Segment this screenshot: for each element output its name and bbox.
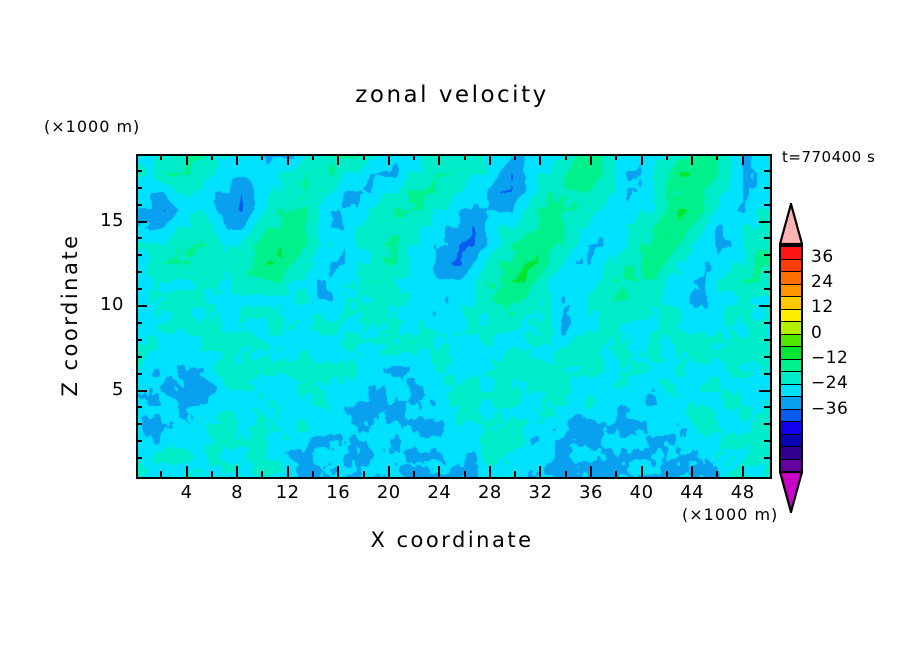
tick-x-top	[261, 154, 263, 160]
tick-x-top	[514, 154, 516, 160]
tick-x-bottom	[312, 471, 314, 477]
tick-x-bottom	[742, 466, 744, 477]
tick-y-right	[764, 204, 770, 206]
tick-x-bottom	[691, 466, 693, 477]
tick-x-top	[666, 154, 668, 160]
tick-x-bottom	[590, 466, 592, 477]
tick-y-left	[136, 373, 142, 375]
tick-y-left	[136, 221, 147, 223]
tick-y-right	[764, 440, 770, 442]
colorbar-band	[781, 322, 801, 335]
colorbar-band	[781, 385, 801, 398]
colorbar-tick-label: 36	[811, 247, 834, 267]
tick-x-top	[160, 154, 162, 160]
colorbar-tick-label: 12	[811, 297, 834, 317]
plot-area	[136, 154, 772, 479]
tick-y-right	[764, 406, 770, 408]
colorbar-band	[781, 247, 801, 260]
colorbar-tick-label: 0	[811, 323, 822, 343]
colorbar-band	[781, 310, 801, 323]
colorbar-band	[781, 435, 801, 448]
tick-x-top	[716, 154, 718, 160]
tick-x-bottom	[413, 471, 415, 477]
colorbar-band	[781, 447, 801, 460]
tick-x-bottom	[641, 466, 643, 477]
page-title: zonal velocity	[0, 82, 904, 108]
tick-label-x: 48	[713, 482, 773, 503]
colorbar-band	[781, 347, 801, 360]
colorbar-bottom-arrow-icon	[779, 471, 803, 513]
colorbar-band	[781, 460, 801, 472]
colorbar-band	[781, 272, 801, 285]
tick-label-y: 15	[64, 210, 124, 231]
tick-x-bottom	[464, 471, 466, 477]
tick-y-left	[136, 237, 142, 239]
tick-x-top	[438, 154, 440, 165]
tick-x-bottom	[363, 471, 365, 477]
tick-y-left	[136, 423, 142, 425]
tick-x-top	[691, 154, 693, 165]
tick-x-top	[413, 154, 415, 160]
x-axis-title: X coordinate	[0, 528, 904, 552]
tick-x-top	[186, 154, 188, 165]
colorbar-band	[781, 372, 801, 385]
tick-x-top	[464, 154, 466, 160]
tick-x-bottom	[236, 466, 238, 477]
colorbar-bands	[779, 245, 803, 473]
tick-x-top	[489, 154, 491, 165]
tick-label-y: 5	[64, 379, 124, 400]
tick-x-top	[236, 154, 238, 165]
tick-x-bottom	[565, 471, 567, 477]
tick-y-left	[136, 187, 142, 189]
tick-y-right	[759, 390, 770, 392]
tick-y-left	[136, 440, 142, 442]
tick-x-bottom	[438, 466, 440, 477]
colorbar-tick-label: −24	[811, 373, 848, 393]
tick-y-left	[136, 457, 142, 459]
tick-y-left	[136, 339, 142, 341]
tick-label-y: 10	[64, 294, 124, 315]
tick-x-top	[641, 154, 643, 165]
tick-x-bottom	[261, 471, 263, 477]
colorbar-band	[781, 410, 801, 423]
tick-y-left	[136, 406, 142, 408]
tick-x-top	[565, 154, 567, 160]
colorbar-band	[781, 422, 801, 435]
colorbar-top-arrow-icon	[779, 203, 803, 245]
colorbar-band	[781, 397, 801, 410]
tick-y-right	[764, 271, 770, 273]
tick-x-top	[388, 154, 390, 165]
tick-y-right	[764, 170, 770, 172]
tick-x-top	[211, 154, 213, 160]
colorbar-band	[781, 297, 801, 310]
tick-x-bottom	[666, 471, 668, 477]
tick-x-bottom	[287, 466, 289, 477]
colorbar-band	[781, 260, 801, 273]
tick-y-left	[136, 288, 142, 290]
tick-x-top	[312, 154, 314, 160]
tick-x-bottom	[211, 471, 213, 477]
tick-y-left	[136, 271, 142, 273]
tick-x-bottom	[160, 471, 162, 477]
tick-x-bottom	[539, 466, 541, 477]
tick-y-right	[759, 221, 770, 223]
tick-x-bottom	[514, 471, 516, 477]
tick-x-top	[363, 154, 365, 160]
colorbar-tick-label: 24	[811, 272, 834, 292]
x-axis-unit-label: (×1000 m)	[682, 505, 778, 524]
colorbar-band	[781, 360, 801, 373]
colorbar-tick-label: −36	[811, 399, 848, 419]
tick-y-right	[764, 457, 770, 459]
tick-y-right	[764, 288, 770, 290]
tick-x-top	[590, 154, 592, 165]
tick-y-left	[136, 390, 147, 392]
tick-y-right	[764, 339, 770, 341]
tick-x-top	[539, 154, 541, 165]
tick-y-right	[764, 423, 770, 425]
tick-y-left	[136, 305, 147, 307]
colorbar: 3624120−12−24−36	[779, 205, 803, 515]
tick-x-bottom	[615, 471, 617, 477]
colorbar-band	[781, 285, 801, 298]
tick-y-left	[136, 254, 142, 256]
colorbar-band	[781, 335, 801, 348]
tick-x-bottom	[716, 471, 718, 477]
tick-y-right	[759, 305, 770, 307]
tick-y-right	[764, 254, 770, 256]
z-axis-unit-label: (×1000 m)	[44, 117, 140, 136]
tick-x-top	[742, 154, 744, 165]
tick-y-right	[764, 356, 770, 358]
colorbar-tick-label: −12	[811, 348, 848, 368]
tick-x-top	[337, 154, 339, 165]
tick-x-top	[615, 154, 617, 160]
tick-y-left	[136, 204, 142, 206]
tick-x-bottom	[388, 466, 390, 477]
tick-x-bottom	[186, 466, 188, 477]
contour-field	[138, 156, 770, 477]
tick-y-right	[764, 322, 770, 324]
tick-y-right	[764, 187, 770, 189]
timestamp-annotation: t=770400 s	[782, 148, 875, 166]
tick-y-left	[136, 170, 142, 172]
tick-y-right	[764, 373, 770, 375]
tick-y-left	[136, 356, 142, 358]
tick-y-right	[764, 237, 770, 239]
contour-plot-figure: zonal velocity (×1000 m) (×1000 m) X coo…	[0, 0, 904, 654]
tick-x-bottom	[489, 466, 491, 477]
tick-x-bottom	[337, 466, 339, 477]
tick-x-top	[287, 154, 289, 165]
tick-y-left	[136, 322, 142, 324]
